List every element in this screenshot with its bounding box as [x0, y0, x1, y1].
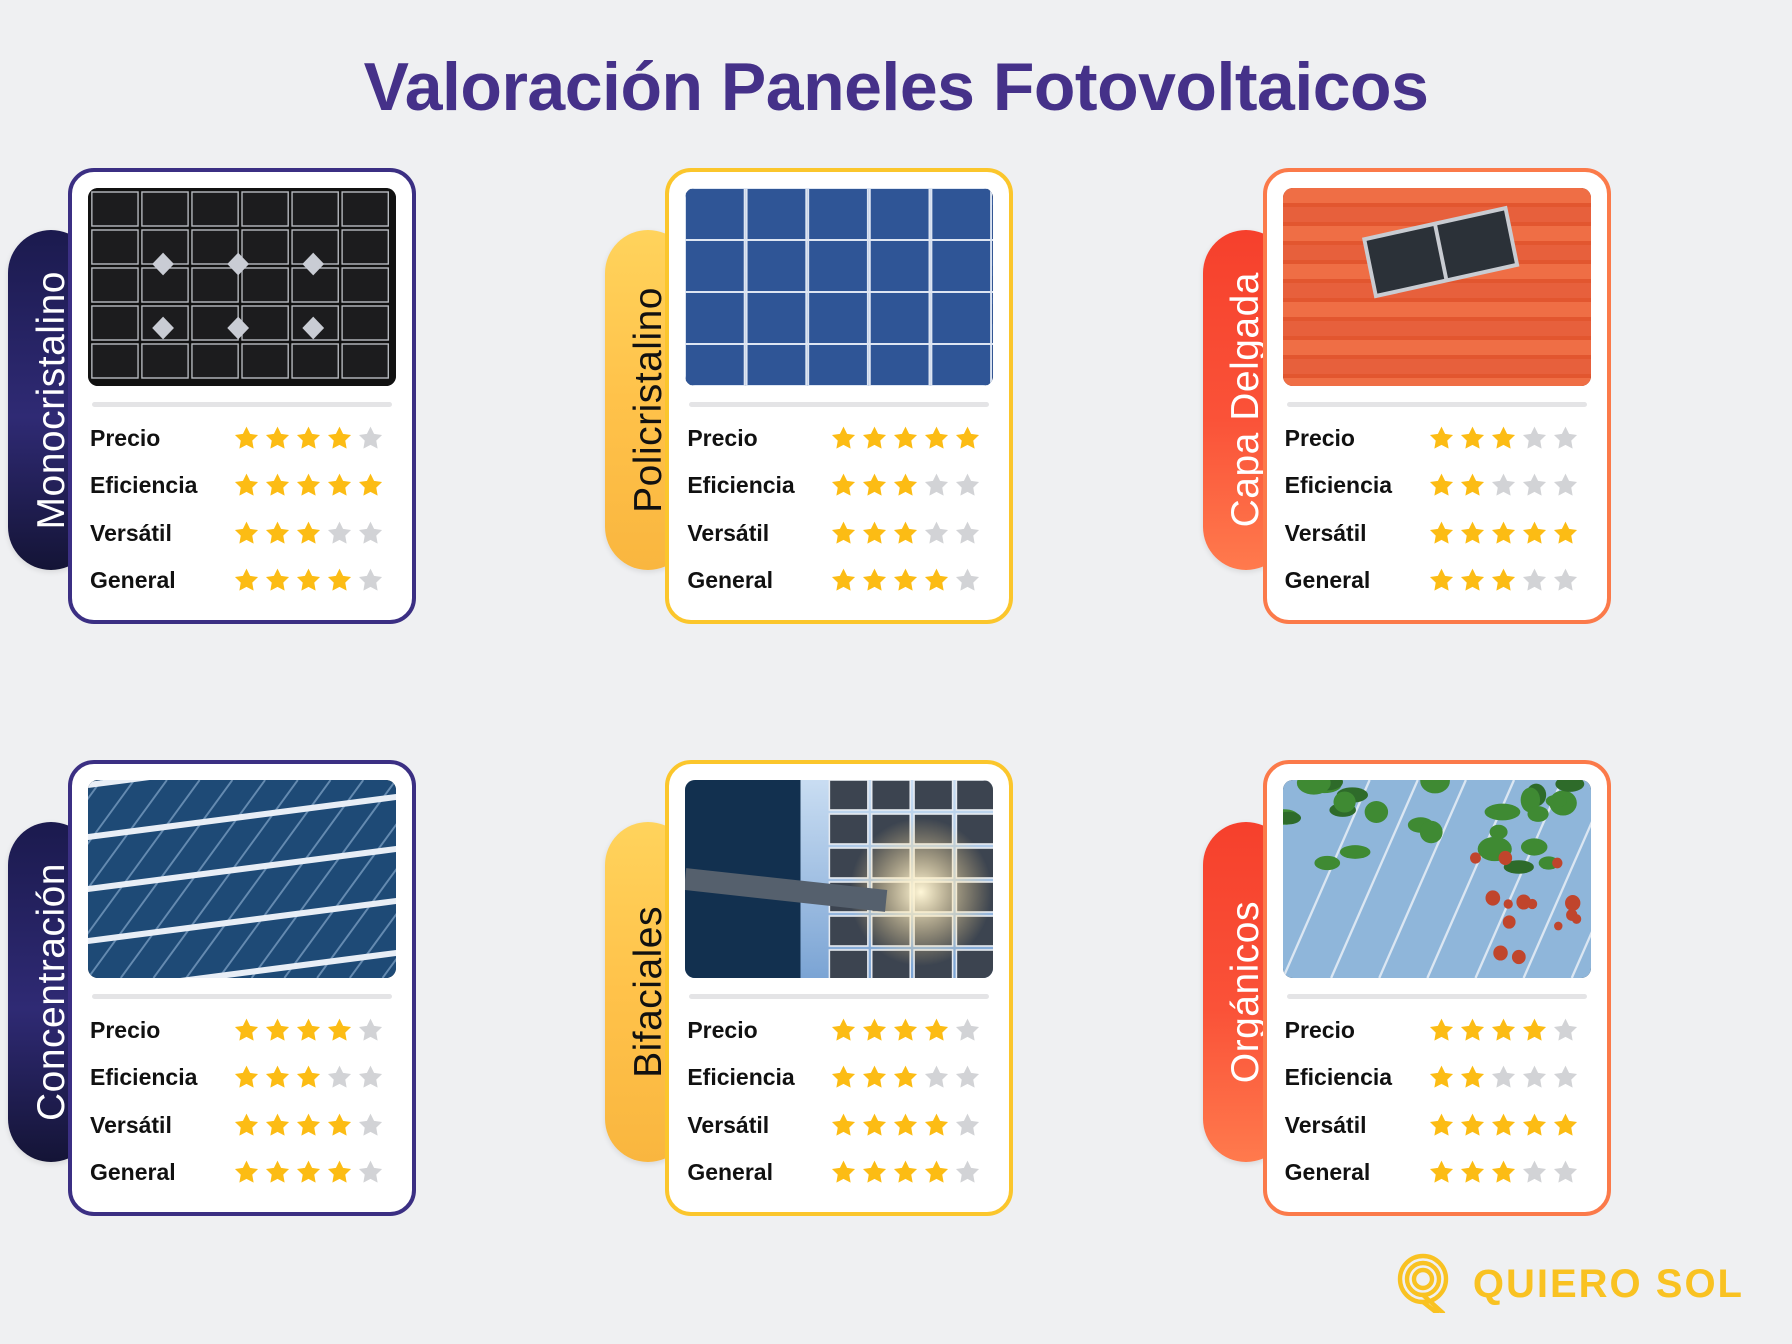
star-icon [1458, 1016, 1487, 1045]
star-icon [1427, 1158, 1456, 1187]
star-icon [829, 471, 858, 500]
rating-row: Eficiencia [1285, 471, 1589, 500]
star-icon [922, 519, 951, 548]
rating-label: General [687, 567, 829, 594]
star-icon [891, 519, 920, 548]
star-rating [829, 1158, 982, 1187]
star-rating [829, 424, 982, 453]
rating-label: Precio [1285, 1017, 1427, 1044]
card-divider [689, 402, 989, 407]
star-rating [1427, 519, 1580, 548]
star-icon [1520, 519, 1549, 548]
star-icon [263, 1063, 292, 1092]
star-icon [1551, 1063, 1580, 1092]
star-icon [829, 424, 858, 453]
star-icon [356, 471, 385, 500]
rating-label: Eficiencia [1285, 1064, 1427, 1091]
panel-card-cell: BifacialesPrecioEficienciaVersátilGenera… [597, 760, 1194, 1316]
brand-logo-text: QUIERO SOL [1473, 1262, 1744, 1307]
star-icon [1489, 424, 1518, 453]
star-icon [294, 1111, 323, 1140]
card-tab-label: Concentración [32, 863, 71, 1121]
star-icon [356, 1063, 385, 1092]
star-icon [325, 566, 354, 595]
star-icon [325, 471, 354, 500]
star-icon [860, 1063, 889, 1092]
star-icon [232, 424, 261, 453]
star-rating [232, 1063, 385, 1092]
rating-row: Versátil [1285, 519, 1589, 548]
rating-label: Eficiencia [1285, 472, 1427, 499]
star-icon [829, 1158, 858, 1187]
star-icon [1520, 1063, 1549, 1092]
star-icon [263, 1111, 292, 1140]
star-icon [922, 1158, 951, 1187]
card-divider [1287, 402, 1587, 407]
star-icon [953, 566, 982, 595]
star-icon [860, 1016, 889, 1045]
brand-logo: QUIERO SOL [1395, 1251, 1744, 1318]
star-icon [232, 1158, 261, 1187]
rating-label: Versátil [1285, 520, 1427, 547]
star-icon [356, 566, 385, 595]
star-icon [829, 1111, 858, 1140]
star-icon [1427, 566, 1456, 595]
star-icon [1458, 566, 1487, 595]
rating-label: Versátil [90, 1112, 232, 1139]
star-icon [1551, 519, 1580, 548]
star-icon [953, 1063, 982, 1092]
rating-label: General [1285, 1159, 1427, 1186]
star-icon [263, 424, 292, 453]
rating-row: General [687, 566, 991, 595]
ratings-list: PrecioEficienciaVersátilGeneral [88, 413, 396, 610]
star-icon [1551, 424, 1580, 453]
rating-label: General [687, 1159, 829, 1186]
rating-row: General [1285, 1158, 1589, 1187]
star-icon [263, 471, 292, 500]
rating-row: Precio [90, 424, 394, 453]
star-rating [1427, 1063, 1580, 1092]
star-icon [1551, 1111, 1580, 1140]
star-icon [1427, 1111, 1456, 1140]
rating-label: Eficiencia [687, 472, 829, 499]
panel-card[interactable]: PrecioEficienciaVersátilGeneral [1263, 168, 1611, 624]
star-icon [953, 1111, 982, 1140]
star-rating [1427, 1016, 1580, 1045]
star-icon [1458, 471, 1487, 500]
star-icon [294, 1063, 323, 1092]
star-icon [294, 519, 323, 548]
rating-label: Eficiencia [687, 1064, 829, 1091]
star-icon [922, 471, 951, 500]
star-icon [860, 519, 889, 548]
star-icon [263, 1016, 292, 1045]
star-icon [325, 1158, 354, 1187]
rating-label: Precio [90, 1017, 232, 1044]
star-icon [860, 1111, 889, 1140]
star-icon [232, 566, 261, 595]
star-icon [294, 566, 323, 595]
card-divider [689, 994, 989, 999]
rating-row: Precio [687, 424, 991, 453]
rating-row: Versátil [1285, 1111, 1589, 1140]
star-icon [1551, 566, 1580, 595]
star-icon [922, 424, 951, 453]
rating-row: Precio [1285, 424, 1589, 453]
star-icon [829, 1063, 858, 1092]
star-icon [891, 1016, 920, 1045]
star-icon [1520, 1016, 1549, 1045]
star-rating [829, 471, 982, 500]
star-icon [1520, 471, 1549, 500]
star-icon [294, 424, 323, 453]
star-icon [829, 519, 858, 548]
star-icon [1551, 471, 1580, 500]
star-icon [1489, 1063, 1518, 1092]
star-icon [891, 471, 920, 500]
rating-label: General [90, 1159, 232, 1186]
star-icon [356, 424, 385, 453]
panel-card-cell: ConcentraciónPrecioEficienciaVersátilGen… [0, 760, 597, 1316]
star-rating [829, 519, 982, 548]
star-icon [922, 1063, 951, 1092]
rating-label: Precio [90, 425, 232, 452]
star-icon [922, 566, 951, 595]
star-icon [860, 1158, 889, 1187]
star-icon [953, 1016, 982, 1045]
thin-film-roof-photo [1283, 188, 1591, 386]
star-rating [1427, 1158, 1580, 1187]
ratings-list: PrecioEficienciaVersátilGeneral [1283, 1005, 1591, 1202]
panel-card[interactable]: PrecioEficienciaVersátilGeneral [1263, 760, 1611, 1216]
rating-label: Precio [687, 425, 829, 452]
page-title: Valoración Paneles Fotovoltaicos [0, 0, 1792, 126]
rating-row: Precio [1285, 1016, 1589, 1045]
rating-label: Versátil [687, 520, 829, 547]
panel-card[interactable]: PrecioEficienciaVersátilGeneral [68, 760, 416, 1216]
rating-label: General [90, 567, 232, 594]
rating-row: Eficiencia [90, 471, 394, 500]
star-icon [1520, 1158, 1549, 1187]
ratings-list: PrecioEficienciaVersátilGeneral [685, 413, 993, 610]
panel-card-cell: PolicristalinoPrecioEficienciaVersátilGe… [597, 168, 1194, 724]
rating-row: General [1285, 566, 1589, 595]
star-icon [1489, 1016, 1518, 1045]
star-rating [232, 1111, 385, 1140]
star-rating [232, 424, 385, 453]
rating-label: Precio [1285, 425, 1427, 452]
star-rating [1427, 1111, 1580, 1140]
star-rating [829, 1063, 982, 1092]
star-rating [232, 1016, 385, 1045]
star-icon [1489, 566, 1518, 595]
star-icon [860, 471, 889, 500]
ratings-list: PrecioEficienciaVersátilGeneral [88, 1005, 396, 1202]
star-icon [232, 471, 261, 500]
star-icon [1551, 1016, 1580, 1045]
star-icon [1458, 1158, 1487, 1187]
star-icon [263, 1158, 292, 1187]
star-icon [263, 519, 292, 548]
star-icon [1458, 1063, 1487, 1092]
card-divider [92, 994, 392, 999]
rating-row: Precio [90, 1016, 394, 1045]
monocrystalline-panel-photo [88, 188, 396, 386]
star-icon [860, 424, 889, 453]
rating-row: General [687, 1158, 991, 1187]
bifacial-panel-sun-photo [685, 780, 993, 978]
star-icon [1489, 519, 1518, 548]
rating-label: Eficiencia [90, 1064, 232, 1091]
rating-row: Eficiencia [90, 1063, 394, 1092]
star-icon [1427, 519, 1456, 548]
star-icon [356, 1111, 385, 1140]
infographic-page: Valoración Paneles Fotovoltaicos Monocri… [0, 0, 1792, 1344]
star-icon [891, 566, 920, 595]
rating-label: General [1285, 567, 1427, 594]
star-rating [232, 1158, 385, 1187]
star-icon [891, 1158, 920, 1187]
star-icon [263, 566, 292, 595]
star-icon [1489, 1111, 1518, 1140]
rating-row: Precio [687, 1016, 991, 1045]
star-icon [1520, 566, 1549, 595]
card-grid: MonocristalinoPrecioEficienciaVersátilGe… [0, 168, 1792, 1316]
panel-card[interactable]: PrecioEficienciaVersátilGeneral [665, 760, 1013, 1216]
rating-row: General [90, 1158, 394, 1187]
star-icon [1458, 424, 1487, 453]
panel-card-cell: MonocristalinoPrecioEficienciaVersátilGe… [0, 168, 597, 724]
polycrystalline-panel-photo [685, 188, 993, 386]
star-icon [232, 1063, 261, 1092]
star-icon [232, 1111, 261, 1140]
rating-row: General [90, 566, 394, 595]
star-icon [1520, 424, 1549, 453]
ratings-list: PrecioEficienciaVersátilGeneral [1283, 413, 1591, 610]
star-icon [1551, 1158, 1580, 1187]
star-icon [1489, 471, 1518, 500]
card-tab-label: Monocristalino [32, 271, 71, 529]
star-icon [891, 424, 920, 453]
star-rating [232, 519, 385, 548]
rating-label: Eficiencia [90, 472, 232, 499]
card-divider [1287, 994, 1587, 999]
star-rating [232, 566, 385, 595]
star-icon [829, 566, 858, 595]
star-rating [1427, 471, 1580, 500]
quiero-sol-spiral-icon [1395, 1251, 1457, 1318]
rating-row: Eficiencia [687, 1063, 991, 1092]
star-icon [356, 519, 385, 548]
organic-panel-foliage-photo [1283, 780, 1591, 978]
star-icon [891, 1063, 920, 1092]
star-icon [829, 1016, 858, 1045]
star-icon [1427, 1063, 1456, 1092]
concentration-panel-array-photo [88, 780, 396, 978]
rating-label: Versátil [1285, 1112, 1427, 1139]
rating-label: Versátil [687, 1112, 829, 1139]
rating-label: Precio [687, 1017, 829, 1044]
star-icon [1427, 471, 1456, 500]
star-icon [325, 424, 354, 453]
card-tab-label: Bifaciales [629, 906, 668, 1078]
panel-card-cell: OrgánicosPrecioEficienciaVersátilGeneral [1195, 760, 1792, 1316]
star-icon [325, 519, 354, 548]
star-rating [232, 471, 385, 500]
star-rating [829, 1111, 982, 1140]
card-divider [92, 402, 392, 407]
panel-card-cell: Capa DelgadaPrecioEficienciaVersátilGene… [1195, 168, 1792, 724]
rating-row: Versátil [90, 519, 394, 548]
card-tab-label: Orgánicos [1226, 901, 1265, 1083]
card-tab-label: Capa Delgada [1226, 272, 1265, 527]
rating-row: Eficiencia [687, 471, 991, 500]
star-icon [953, 471, 982, 500]
panel-card[interactable]: PrecioEficienciaVersátilGeneral [68, 168, 416, 624]
star-icon [953, 519, 982, 548]
ratings-list: PrecioEficienciaVersátilGeneral [685, 1005, 993, 1202]
star-icon [922, 1016, 951, 1045]
star-icon [294, 1158, 323, 1187]
star-icon [1458, 1111, 1487, 1140]
star-icon [1458, 519, 1487, 548]
star-icon [232, 519, 261, 548]
rating-label: Versátil [90, 520, 232, 547]
card-tab-label: Policristalino [629, 287, 668, 513]
star-icon [232, 1016, 261, 1045]
star-icon [860, 566, 889, 595]
star-icon [1520, 1111, 1549, 1140]
star-rating [1427, 566, 1580, 595]
star-icon [953, 1158, 982, 1187]
rating-row: Eficiencia [1285, 1063, 1589, 1092]
rating-row: Versátil [687, 519, 991, 548]
star-icon [1427, 1016, 1456, 1045]
star-icon [325, 1111, 354, 1140]
star-icon [1427, 424, 1456, 453]
panel-card[interactable]: PrecioEficienciaVersátilGeneral [665, 168, 1013, 624]
rating-row: Versátil [687, 1111, 991, 1140]
star-icon [922, 1111, 951, 1140]
star-icon [325, 1063, 354, 1092]
star-rating [1427, 424, 1580, 453]
rating-row: Versátil [90, 1111, 394, 1140]
star-icon [953, 424, 982, 453]
star-icon [294, 1016, 323, 1045]
star-icon [356, 1158, 385, 1187]
star-icon [891, 1111, 920, 1140]
star-rating [829, 1016, 982, 1045]
star-icon [294, 471, 323, 500]
star-icon [1489, 1158, 1518, 1187]
star-rating [829, 566, 982, 595]
star-icon [325, 1016, 354, 1045]
star-icon [356, 1016, 385, 1045]
